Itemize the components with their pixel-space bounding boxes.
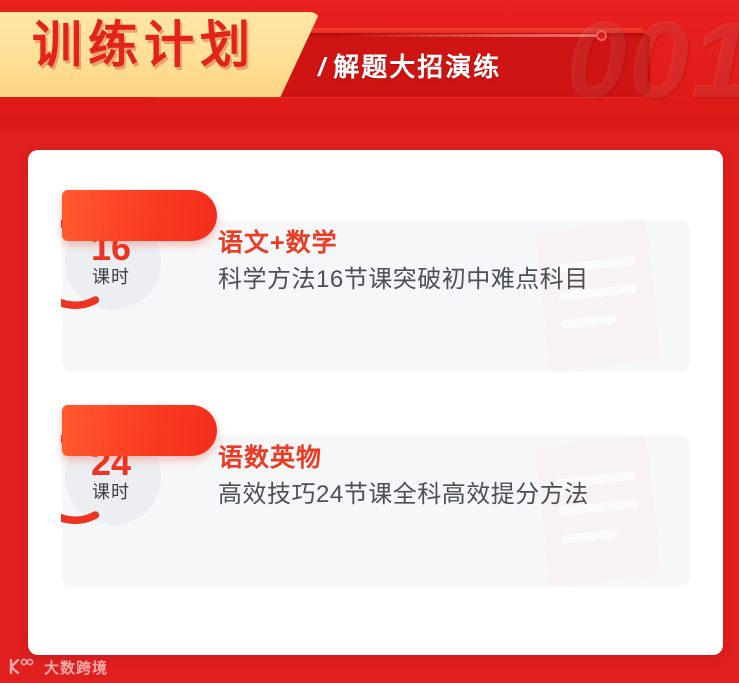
course-text-group: 语数英物 高效技巧24节课全科高效提分方法 <box>218 443 589 510</box>
brand-name: 大数跨境 <box>44 661 108 676</box>
poster-header: 001 训练计划 /解题大招演练 <box>0 0 739 130</box>
course-description: 高效技巧24节课全科高效提分方法 <box>218 479 589 510</box>
subtitle-label: 解题大招演练 <box>333 52 501 82</box>
promo-poster: 001 训练计划 /解题大招演练 初中 <box>0 0 739 683</box>
page-title: 训练计划 <box>32 20 256 70</box>
brand-watermark: 大数跨境 <box>8 658 108 679</box>
brand-logo-icon <box>8 658 38 679</box>
hours-unit-label: 课时 <box>61 483 161 501</box>
content-panel: 初中 16 课时 语文+数学 科学方法16节课突破初中难点科目 <box>28 150 723 655</box>
hours-unit-label: 课时 <box>61 268 161 286</box>
subtitle-slash-icon: / <box>318 52 327 82</box>
course-text-group: 语文+数学 科学方法16节课突破初中难点科目 <box>218 228 589 295</box>
course-title: 语数英物 <box>218 443 589 474</box>
course-level-badge <box>62 405 217 456</box>
header-decorative-line <box>335 34 600 37</box>
header-watermark-number: 001 <box>567 6 739 114</box>
course-title: 语文+数学 <box>218 228 589 259</box>
page-subtitle: /解题大招演练 <box>318 54 501 80</box>
course-description: 科学方法16节课突破初中难点科目 <box>218 264 589 295</box>
poster-footer: 大数跨境 <box>0 655 739 683</box>
course-level-badge <box>62 190 217 241</box>
